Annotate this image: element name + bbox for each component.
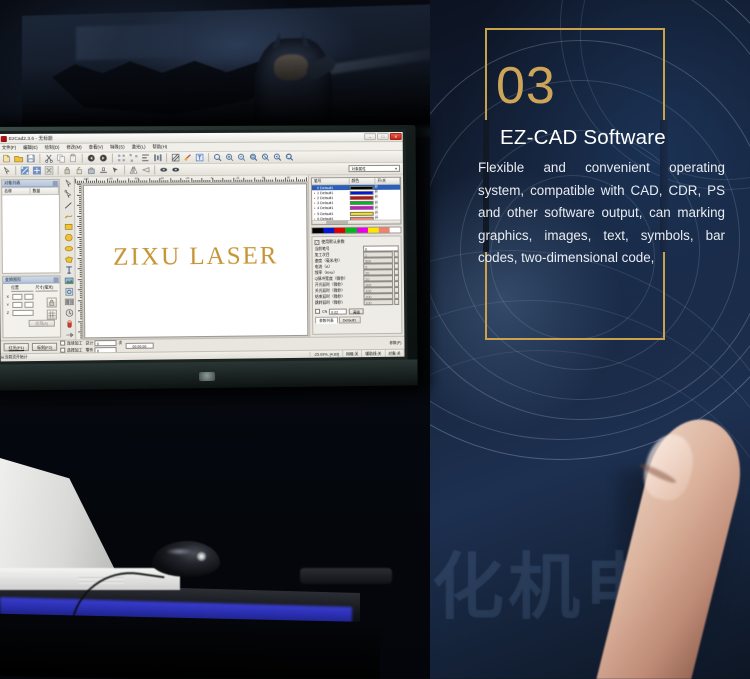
ruler-tick [298, 179, 299, 181]
parameter-label: 开光延时（微秒） [315, 282, 363, 287]
ruler-tick [79, 239, 81, 240]
batman-ear-right [302, 31, 310, 47]
ruler-tick [80, 291, 82, 292]
size-y-input[interactable] [24, 302, 34, 308]
count-label: 总计 [85, 340, 93, 346]
pen-column-number: 笔号 [312, 178, 350, 184]
ruler-tick [149, 178, 150, 182]
parameter-footer: CN 0.02 高级 [315, 308, 399, 315]
ruler-tick [79, 211, 81, 212]
pen-color-swatch[interactable] [350, 201, 374, 205]
scrollbar-thumb[interactable] [326, 221, 348, 224]
parameter-label: 电流（A） [315, 264, 363, 269]
mirror-h-icon[interactable] [128, 165, 139, 175]
ruler-tick [185, 180, 186, 182]
cn-checkbox[interactable] [315, 309, 320, 314]
baseline-icon[interactable] [98, 165, 109, 175]
output-port-icon[interactable] [64, 330, 75, 340]
app-icon [1, 135, 7, 141]
ruler-label: -20 [185, 176, 189, 180]
canvas-text-object[interactable]: ZIXU LASER [113, 243, 278, 272]
node-del-icon[interactable] [43, 165, 54, 175]
axis-label-x: X [5, 295, 10, 299]
ruler-tick [80, 329, 82, 330]
apply-button[interactable]: 应用(A) [29, 320, 55, 327]
monitor-brand-logo [199, 372, 215, 381]
ruler-tick [195, 180, 196, 182]
line-icon[interactable] [62, 200, 73, 210]
ruler-tick [88, 181, 89, 183]
cn-label: CN [322, 310, 327, 314]
ruler-tick [226, 180, 227, 182]
poster-light-beam [292, 46, 452, 80]
circle-icon[interactable] [63, 233, 74, 243]
left-dock: 对象列表 名称 数量 [0, 177, 63, 340]
use-default-param-checkbox[interactable]: ✓ 使用默认参数 [314, 238, 398, 245]
axis-label-y: Y [5, 303, 10, 307]
ruler-tick [147, 180, 148, 182]
ruler-tick [119, 181, 120, 183]
position-z-input[interactable] [12, 310, 33, 316]
parameter-panel: ✓ 使用默认参数 当前笔号0加工次目1速度（毫米/秒）500电流（A）5频率（K… [311, 235, 402, 334]
object-property-combo[interactable]: 对象属性 ▾ [349, 165, 400, 172]
checkbox-box[interactable] [60, 341, 65, 346]
count-value[interactable]: 0 [95, 340, 117, 346]
ruler-tick [80, 260, 82, 261]
menu-item-special[interactable]: 特殊(S) [110, 144, 124, 150]
toolbar-separator [58, 166, 59, 175]
window-controls: – □ ✕ [364, 133, 403, 140]
ruler-tick [79, 190, 81, 191]
monitor-chin [0, 359, 418, 390]
ruler-tick [224, 180, 225, 182]
color-swatch[interactable] [312, 228, 323, 233]
ruler-tick [176, 180, 177, 182]
object-list-title: 对象列表 [4, 180, 20, 186]
timer-icon[interactable] [63, 308, 74, 318]
position-y-input[interactable] [12, 302, 22, 308]
ruler-tick [189, 180, 190, 182]
ruler-tick [178, 180, 179, 182]
group-icon[interactable] [116, 153, 127, 163]
batman-face [274, 54, 308, 81]
status-ortho[interactable]: 对象:关 [385, 349, 404, 357]
ruler-tick [302, 179, 303, 181]
group-lock-icon[interactable] [86, 165, 97, 175]
menu-item-laser[interactable]: 激光(L) [132, 144, 146, 150]
axis-label-z: Z [5, 311, 10, 315]
toolbar-separator [208, 153, 209, 162]
ruler-tick [182, 180, 183, 182]
ruler-tick [80, 270, 82, 271]
status-grid[interactable]: 网格:关 [343, 350, 362, 358]
ruler-tick [121, 181, 122, 183]
ruler-tick [134, 180, 135, 182]
cut-icon[interactable] [43, 153, 54, 163]
pen-color-swatch[interactable] [350, 191, 374, 195]
ruler-tick [258, 180, 259, 182]
status-zoom: -25.09%, [4.83] [311, 350, 344, 358]
ruler-tick [80, 314, 82, 315]
ruler-tick [77, 215, 81, 216]
ruler-tick [79, 218, 81, 219]
transform-panel: 变换图形 位置 尺寸(毫米) X [2, 275, 61, 338]
param-hint[interactable]: 参数(P) [389, 340, 401, 345]
ruler-tick [275, 178, 276, 182]
vertical-ruler[interactable] [75, 184, 83, 340]
color-swatch[interactable] [390, 227, 401, 232]
zoom-all-icon[interactable] [284, 152, 295, 162]
monitor-bezel: EzCad2.3.6 - 无标题 – □ ✕ 文件(F) 编辑(E) 绘制(D)… [0, 129, 408, 364]
ruler-tick [266, 180, 267, 182]
ruler-tick [229, 180, 230, 182]
ruler-tick [222, 178, 223, 182]
ruler-tick [80, 298, 82, 299]
ruler-tick [289, 179, 290, 181]
lock-icon[interactable] [47, 297, 57, 307]
ruler-tick [77, 205, 81, 206]
pen-name: 2 Default1 [317, 196, 350, 200]
copy-icon[interactable] [55, 153, 66, 163]
zoom-page-icon[interactable] [212, 152, 223, 162]
ruler-label: -80 [109, 177, 113, 181]
computer-mouse [152, 541, 220, 577]
object-list-panel: 对象列表 名称 数量 [1, 179, 60, 274]
parameter-label: 跳转延时（微秒） [315, 300, 363, 305]
ruler-tick [77, 247, 81, 248]
parameter-label: 结束延时（微秒） [315, 294, 363, 299]
ruler-tick [287, 179, 288, 181]
ruler-tick [79, 203, 81, 204]
ruler-tick [268, 180, 269, 182]
undo-icon[interactable] [86, 153, 97, 163]
banner-heading: EZ-CAD Software [478, 126, 728, 150]
tab-default1[interactable]: Default1 [339, 317, 361, 324]
zoom-selection-icon[interactable] [248, 152, 259, 162]
close-button[interactable]: ✕ [390, 133, 402, 140]
menu-item-edit[interactable]: 编辑(E) [23, 145, 38, 151]
ruler-label: -40 [160, 176, 164, 180]
ruler-tick [304, 179, 305, 181]
toolbar-separator [154, 165, 155, 174]
color-swatch[interactable] [379, 228, 390, 233]
chevron-down-icon[interactable]: ▾ [393, 166, 399, 171]
red-light-button[interactable]: 红光(P1) [4, 343, 29, 351]
barcode-icon[interactable] [63, 297, 74, 307]
parameter-label: Q脉冲宽度（微秒） [315, 276, 363, 281]
redo-icon[interactable] [98, 153, 109, 163]
pen-color-swatch[interactable] [350, 211, 374, 215]
ruler-tick [136, 180, 137, 182]
polygon-icon[interactable] [63, 254, 74, 264]
ruler-tick [262, 180, 263, 182]
ruler-tick [168, 180, 169, 182]
save-icon[interactable] [25, 153, 36, 163]
ruler-tick [79, 213, 81, 214]
transform-panel-title: 变换图形 [5, 277, 21, 283]
pen-list-rows[interactable]: ▪0 Default1开▪1 Default1开▪2 Default1开▪3 D… [312, 185, 400, 220]
anchor-grid-icon[interactable] [47, 310, 57, 320]
zoom-in-icon[interactable] [224, 152, 235, 162]
color-swatch[interactable] [356, 228, 367, 233]
parameter-label: 加工次目 [315, 253, 363, 258]
ruler-label: 20 [236, 176, 239, 180]
size-x-input[interactable] [24, 294, 34, 300]
menu-item-draw[interactable]: 绘制(D) [45, 145, 60, 151]
desk-keyboard [300, 568, 392, 584]
pen-color-swatch[interactable] [350, 185, 374, 189]
ruler-tick [77, 237, 81, 238]
ruler-tick [79, 232, 81, 233]
menu-item-view[interactable]: 查看(V) [89, 145, 103, 151]
transform-col-headers: 位置 尺寸(毫米) [5, 285, 58, 292]
parameter-label: 当前笔号 [315, 247, 363, 252]
rotate-cw-icon[interactable] [158, 165, 169, 175]
ruler-tick [293, 179, 294, 181]
pin-icon[interactable] [53, 180, 58, 185]
screenshot-root: 智能化机电 03 EZ-CAD Software Flexible and co… [0, 0, 750, 679]
pen-color-swatch[interactable] [350, 206, 374, 210]
color-swatches[interactable] [311, 226, 401, 234]
pen-name: 4 Default1 [317, 206, 350, 210]
ruler-tick [79, 196, 81, 197]
select-icon[interactable] [1, 166, 12, 176]
color-swatch[interactable] [367, 228, 378, 233]
menu-item-modify[interactable]: 修改(M) [66, 145, 81, 151]
banner-content: 03 EZ-CAD Software Flexible and convenie… [478, 60, 728, 270]
mark-button[interactable]: 标刻(F2) [32, 343, 57, 351]
pen-list[interactable]: 笔号 颜色 开/关 ▪0 Default1开▪1 Default1开▪2 Def… [311, 177, 402, 225]
ruler-tick [199, 180, 200, 182]
ruler-tick [80, 304, 82, 305]
times-label: 次 [118, 339, 122, 345]
parameter-value[interactable]: 100 [364, 299, 394, 305]
pen-column-color: 颜色 [350, 178, 376, 184]
position-x-input[interactable] [12, 294, 22, 300]
checkbox-box[interactable]: ✓ [314, 240, 319, 245]
cn-value[interactable]: 0.02 [329, 308, 347, 314]
banner-paragraph: Flexible and convenient operating system… [478, 157, 725, 270]
ezcad-body: 对象列表 名称 数量 [0, 175, 404, 341]
align-icon[interactable] [140, 153, 151, 163]
pin-icon[interactable] [54, 277, 59, 282]
transform-col-size: 尺寸(毫米) [35, 285, 57, 291]
rectangle-icon[interactable] [63, 222, 74, 232]
ruler-tick [220, 180, 221, 182]
distribute-icon[interactable] [152, 153, 163, 163]
ruler-tick [172, 180, 173, 182]
elapsed-time-field: 00:00:00 [125, 343, 153, 349]
ruler-tick [94, 181, 95, 183]
ruler-tick [277, 180, 278, 182]
batman-cape [52, 55, 282, 123]
ruler-tick [115, 181, 116, 183]
pointer-icon[interactable] [110, 165, 121, 175]
zoom-prev-icon[interactable] [272, 152, 283, 162]
ungroup-icon[interactable] [128, 153, 139, 163]
ruler-tick [80, 274, 82, 275]
ruler-tick [79, 241, 81, 242]
ruler-tick [260, 180, 261, 182]
ruler-tick [126, 181, 127, 183]
spinner-icon[interactable] [394, 299, 399, 305]
ruler-label: -100 [83, 177, 89, 181]
ruler-tick [80, 264, 82, 265]
unlock-icon[interactable] [74, 165, 85, 175]
ellipse-icon[interactable] [63, 243, 74, 253]
ruler-tick [80, 336, 82, 337]
ruler-tick [191, 178, 192, 182]
ruler-tick [80, 253, 82, 254]
ruler-tick [256, 180, 257, 182]
new-file-icon[interactable] [1, 154, 12, 164]
ruler-tick [187, 180, 188, 182]
ruler-label: -60 [134, 176, 138, 180]
ruler-tick [231, 180, 232, 182]
ruler-tick [250, 180, 251, 182]
select-arrow-icon[interactable] [62, 179, 73, 189]
mirror-v-icon[interactable] [140, 165, 151, 175]
ruler-tick [102, 181, 103, 183]
continuous-mark-label: 连续加工 [67, 340, 83, 346]
object-property-value: 对象属性 [351, 166, 365, 171]
open-file-icon[interactable] [13, 153, 24, 163]
drawing-canvas[interactable]: ZIXU LASER [83, 183, 308, 338]
ruler-tick [283, 180, 284, 182]
canvas-row: ZIXU LASER [75, 182, 309, 339]
ruler-tick [80, 338, 82, 339]
node-edit-icon[interactable] [19, 166, 30, 176]
ruler-tick [77, 194, 81, 195]
minimize-button[interactable]: – [364, 133, 376, 140]
ruler-tick [80, 272, 82, 273]
ruler-tick [78, 310, 82, 311]
ruler-tick [151, 180, 152, 182]
ruler-tick [80, 283, 82, 284]
toolbar-separator [124, 165, 125, 174]
ruler-tick [291, 179, 292, 181]
zoom-window-icon[interactable] [260, 152, 271, 162]
ruler-tick [80, 266, 82, 267]
ruler-tick [153, 180, 154, 182]
ruler-tick [78, 279, 82, 280]
ruler-tick [117, 179, 118, 183]
mouse-highlight [196, 551, 207, 562]
toolbar-separator [39, 154, 40, 163]
continuous-mark-checkbox[interactable]: 连续加工 [60, 340, 82, 346]
ruler-tick [79, 224, 81, 225]
ruler-tick [210, 180, 211, 182]
color-swatch[interactable] [345, 228, 356, 233]
ruler-tick [79, 188, 81, 189]
ruler-tick [79, 186, 81, 187]
ruler-tick [123, 181, 124, 183]
ruler-tick [80, 262, 82, 263]
ruler-tick [79, 192, 81, 193]
curve-icon[interactable] [63, 211, 74, 221]
text-icon[interactable] [63, 265, 74, 275]
ruler-tick [80, 287, 82, 288]
ruler-label: 40 [262, 176, 265, 180]
batman-poster-screen [22, 4, 442, 136]
color-swatch[interactable] [334, 228, 345, 233]
advanced-button[interactable]: 高级 [349, 308, 364, 314]
object-list-body[interactable] [2, 195, 59, 273]
ruler-tick [245, 180, 246, 182]
parameter-row: 跳转延时（微秒）100 [315, 299, 399, 306]
pen-color-swatch[interactable] [350, 196, 374, 200]
paste-icon[interactable] [68, 153, 79, 163]
weld-icon[interactable] [182, 153, 193, 163]
ruler-tick [79, 207, 81, 208]
zoom-out-icon[interactable] [236, 152, 247, 162]
menu-item-file[interactable]: 文件(F) [2, 145, 16, 151]
mouse-highlight-secondary [166, 548, 192, 555]
ruler-tick [80, 319, 82, 320]
transform-col-position: 位置 [11, 286, 33, 292]
ruler-tick [77, 226, 81, 227]
ruler-tick [80, 306, 82, 307]
ruler-tick [78, 331, 82, 332]
ruler-tick [109, 181, 110, 183]
ruler-tick [77, 181, 78, 183]
maximize-button[interactable]: □ [377, 133, 389, 140]
ruler-tick [157, 180, 158, 182]
node-add-icon[interactable] [31, 165, 42, 175]
status-snap[interactable]: 辅助线:关 [362, 349, 385, 357]
input-port-icon[interactable] [63, 319, 74, 329]
ruler-tick [80, 302, 82, 303]
ruler-tick [80, 317, 82, 318]
ruler-tick [80, 296, 82, 297]
lock-icon[interactable] [62, 165, 73, 175]
right-dock: 笔号 颜色 开/关 ▪0 Default1开▪1 Default1开▪2 Def… [308, 175, 404, 337]
object-list[interactable]: 名称 数量 [2, 187, 59, 273]
transform-fields: 位置 尺寸(毫米) X Y [3, 283, 60, 329]
column-name: 名称 [2, 188, 30, 194]
color-swatch[interactable] [323, 228, 334, 233]
ruler-tick [96, 179, 97, 183]
ruler-tick [79, 249, 81, 250]
toolbar-separator [112, 154, 113, 163]
pen-list-scrollbar[interactable] [312, 220, 400, 225]
tab-parameter-list[interactable]: 参数列表 [315, 317, 338, 324]
bitmap-icon[interactable] [63, 276, 74, 286]
menu-item-help[interactable]: 帮助(H) [152, 144, 167, 150]
vector-file-icon[interactable] [63, 287, 74, 297]
ruler-tick [77, 184, 81, 185]
poster-window-glow [76, 23, 184, 60]
ruler-tick [233, 178, 234, 182]
status-hint: 从当前页开始计 [1, 352, 311, 361]
ezcad-window: EzCad2.3.6 - 无标题 – □ ✕ 文件(F) 编辑(E) 绘制(D)… [0, 132, 405, 361]
hatch-icon[interactable] [170, 153, 181, 163]
ruler-tick [281, 180, 282, 182]
desk-front-face [0, 614, 380, 679]
toolbar-separator [82, 154, 83, 163]
text-icon[interactable] [194, 153, 205, 163]
ruler-tick [270, 180, 271, 182]
pen-name: 5 Default1 [317, 211, 350, 215]
count-field-row: 总计 0 次 [85, 339, 122, 345]
ruler-tick [155, 180, 156, 182]
ruler-tick [174, 180, 175, 182]
rotate-ccw-icon[interactable] [170, 165, 181, 175]
ruler-tick [79, 245, 81, 246]
ruler-tick [132, 180, 133, 182]
ruler-tick [170, 178, 171, 182]
node-edit-icon[interactable] [62, 190, 73, 200]
